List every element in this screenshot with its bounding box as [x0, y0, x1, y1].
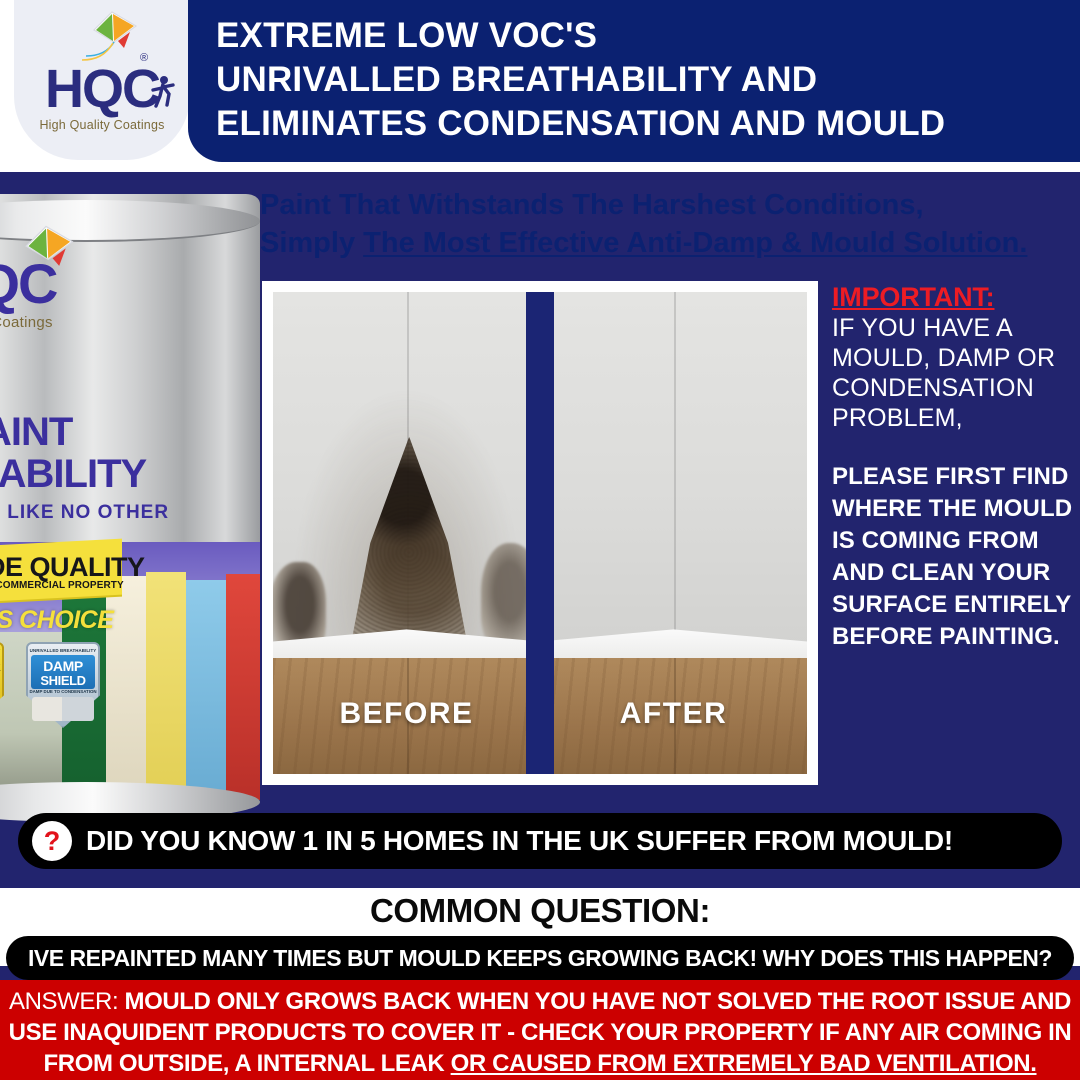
can-logo-tagline: Quality Coatings: [0, 314, 148, 331]
weather-shield-name-2: SHIELD: [0, 673, 4, 688]
answer-line-2: USE INAQUIDENT PRODUCTS TO COVER IT - CH…: [0, 1017, 1080, 1048]
holders-choice-text: HOLDERS CHOICE: [0, 606, 174, 635]
damp-shield-name-1: DAMP: [26, 658, 100, 674]
question-pill: IVE REPAINTED MANY TIMES BUT MOULD KEEPS…: [6, 936, 1074, 980]
important-notice: IMPORTANT: IF YOU HAVE A MOULD, DAMP OR …: [832, 282, 1080, 653]
important-body-bold: PLEASE FIRST FIND WHERE THE MOULD IS COM…: [832, 461, 1080, 653]
before-pane: BEFORE: [273, 292, 540, 774]
damp-shield-name-2: SHIELD: [26, 673, 100, 688]
paint-can-product-image: HQC Quality Coatings UM PAINT D DURABILI…: [0, 172, 260, 822]
header-line-2: UNRIVALLED BREATHABILITY AND: [216, 58, 1080, 102]
damp-shield-bottom-text: DAMP DUE TO CONDENSATION: [26, 689, 100, 694]
important-body-light: IF YOU HAVE A MOULD, DAMP OR CONDENSATIO…: [832, 313, 1080, 433]
can-title-line-1: UM PAINT: [0, 410, 220, 455]
question-text: IVE REPAINTED MANY TIMES BUT MOULD KEEPS…: [28, 945, 1052, 972]
answer-line-3-prefix: FROM OUTSIDE, A INTERNAL LEAK: [44, 1050, 451, 1077]
subtitle-highlight: The Most Effective Anti-Damp & Mould Sol…: [363, 227, 1027, 259]
weather-shield-name-1: WEATHER: [0, 658, 4, 674]
can-title-line-2: D DURABILITY: [0, 452, 216, 497]
can-title-line-3: ORMULATED LIKE NO OTHER: [0, 502, 212, 524]
after-label: AFTER: [540, 697, 807, 731]
common-question-heading: COMMON QUESTION:: [0, 892, 1080, 930]
damp-shield-image: [32, 697, 94, 721]
runner-icon: [148, 74, 178, 110]
answer-line-1-rest: MOULD ONLY GROWS BACK WHEN YOU HAVE NOT …: [124, 988, 1071, 1015]
header-line-1: EXTREME LOW VOC'S: [216, 14, 1080, 58]
weather-shield-badge: WITHSTANDS THE HARSHEST WEATHER WEATHER …: [0, 642, 4, 728]
damp-shield-top-text: UNRIVALLED BREATHABILITY: [26, 648, 100, 653]
subtitle-line-2: Simply The Most Effective Anti-Damp & Mo…: [260, 224, 1080, 262]
before-label: BEFORE: [273, 697, 540, 731]
damp-shield-badge: UNRIVALLED BREATHABILITY DAMP SHIELD DAM…: [26, 642, 100, 728]
advertisement-poster: HQC ® High Quality Coatings EXTREME LOW …: [0, 0, 1080, 1080]
subtitle: Paint That Withstands The Harshest Condi…: [260, 186, 1080, 262]
did-you-know-banner: ? DID YOU KNOW 1 IN 5 HOMES IN THE UK SU…: [18, 813, 1062, 869]
important-heading: IMPORTANT:: [832, 282, 1080, 313]
brand-logo: HQC ® High Quality Coatings: [14, 0, 190, 160]
header-line-3: ELIMINATES CONDENSATION AND MOULD: [216, 102, 1080, 146]
trade-quality-subtext: LL - ON HOUSEHOLD & COMMERCIAL PROPERTY: [0, 580, 128, 591]
answer-block: ANSWER: MOULD ONLY GROWS BACK WHEN YOU H…: [0, 980, 1080, 1080]
subtitle-line-1: Paint That Withstands The Harshest Condi…: [260, 186, 1080, 224]
after-pane: AFTER: [540, 292, 807, 774]
can-kite-icon: [10, 222, 82, 290]
did-you-know-text: DID YOU KNOW 1 IN 5 HOMES IN THE UK SUFF…: [86, 825, 953, 857]
answer-line-1: ANSWER: MOULD ONLY GROWS BACK WHEN YOU H…: [0, 986, 1080, 1017]
answer-label: ANSWER:: [9, 988, 124, 1015]
subtitle-prefix: Simply: [260, 227, 363, 259]
question-mark-icon: ?: [32, 821, 72, 861]
before-after-comparison: BEFORE AFTER: [262, 281, 818, 785]
can-logo: HQC Quality Coatings: [0, 256, 148, 331]
header-banner: EXTREME LOW VOC'S UNRIVALLED BREATHABILI…: [188, 0, 1080, 162]
logo-registered-mark: ®: [140, 52, 148, 64]
answer-line-3: FROM OUTSIDE, A INTERNAL LEAK OR CAUSED …: [0, 1048, 1080, 1079]
logo-tagline: High Quality Coatings: [14, 118, 190, 132]
trade-quality-text: DE QUALITY: [0, 552, 196, 583]
weather-shield-top-text: WITHSTANDS THE HARSHEST WEATHER: [0, 648, 4, 658]
weather-shield-bottom-text: & INTERIOR CLIMATE CONDITIONS: [0, 689, 4, 699]
answer-line-3-highlight: OR CAUSED FROM EXTREMELY BAD VENTILATION…: [451, 1050, 1037, 1077]
